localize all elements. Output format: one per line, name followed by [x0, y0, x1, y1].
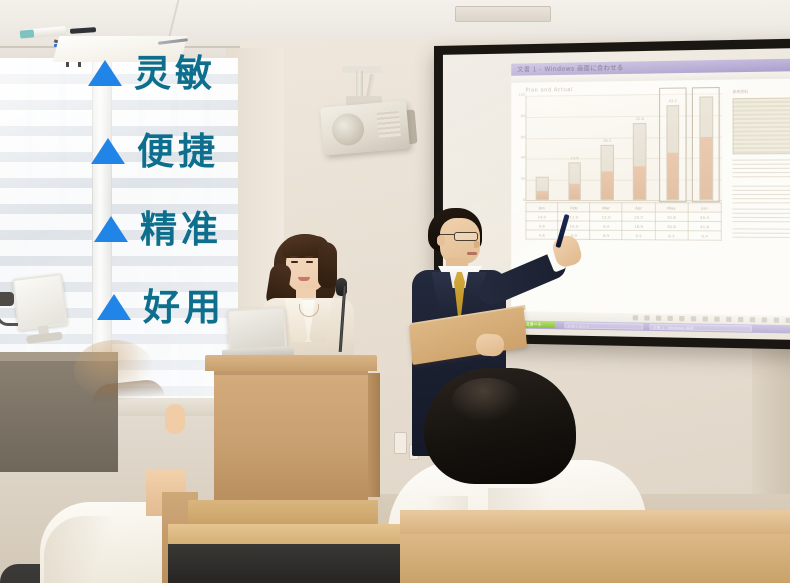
y-axis-tick-label: 60 [521, 136, 526, 140]
desk-item-marker [20, 29, 35, 38]
sidebar-paragraph [733, 228, 790, 241]
feature-label: 便捷 [137, 133, 219, 170]
toolbar-icon[interactable] [738, 317, 743, 322]
y-axis-ticks: 020406080100 [516, 96, 525, 201]
presentation-scene-image: 文書 1 - Windows 画面に合わせる Plan and Actual 0… [0, 0, 790, 583]
attendee-left-hair-highlight [74, 340, 154, 400]
table-column-header: May [655, 203, 688, 212]
man-holding-hand [475, 333, 504, 356]
toolbar-icon[interactable] [668, 316, 673, 321]
chart-bar-actual-segment [700, 137, 711, 200]
chart-bar-plan-segment [568, 162, 581, 200]
desk-left-top [168, 524, 408, 546]
attendee-right-hair-highlight [452, 378, 522, 422]
woman-hair-right [318, 242, 337, 288]
triangle-up-icon [91, 138, 125, 164]
chart-bar: 14.6 [568, 94, 581, 200]
chart-bar-plan-segment [536, 177, 549, 200]
feature-label: 精准 [140, 211, 222, 248]
toolbar-icon[interactable] [633, 315, 638, 320]
feature-label: 灵敏 [134, 55, 216, 92]
projector-lens [331, 112, 366, 147]
sidebar-paragraph [733, 209, 790, 224]
woman-eyebrow-right [305, 256, 313, 258]
toolbar-icon[interactable] [679, 316, 684, 321]
monitor-cable [0, 300, 18, 326]
slide-sidebar: 参考資料 [733, 89, 790, 294]
desk-front-right [400, 496, 790, 583]
table-column-header: Apr [622, 203, 655, 212]
chart-bar-value-label: 31.8 [633, 117, 646, 121]
chart-bar-actual-segment [602, 171, 613, 199]
desk-front-left [168, 500, 408, 583]
toolbar-icon[interactable] [750, 317, 755, 322]
table-cell: 12.0 [590, 212, 622, 221]
triangle-up-icon [97, 294, 131, 320]
desk-left-front [168, 544, 408, 583]
monitor-screen [12, 273, 68, 331]
table-cell: 41.6 [688, 221, 721, 230]
chart-bar-plan-segment [601, 145, 614, 200]
feature-item: 灵敏 [88, 34, 288, 112]
chart-bar-plan-segment [666, 106, 679, 201]
table-cell: 9.0 [590, 221, 622, 230]
table-cell: 18.9 [622, 221, 655, 230]
y-axis-tick-label: 40 [521, 157, 526, 161]
woman-eyebrow-left [290, 256, 298, 258]
bar-chart-plot-area: 020406080100 14.626.331.843.2 [525, 93, 721, 201]
y-axis-tick-label: 80 [521, 115, 526, 119]
chart-bar-actual-segment [569, 184, 580, 199]
table-cell: 9.4 [688, 231, 721, 241]
toolbar-icon[interactable] [726, 317, 731, 322]
projected-window-title: 文書 1 - Windows 画面に合わせる [517, 63, 623, 74]
sidebar-heading: 参考資料 [733, 89, 790, 95]
chart-bar-actual-segment [537, 191, 548, 199]
glasses-temple [440, 234, 455, 235]
feature-item: 好用 [88, 268, 288, 346]
toolbar-icon[interactable] [703, 316, 708, 321]
table-column-header: Jun [688, 203, 721, 212]
feature-item: 便捷 [88, 112, 288, 190]
chart-bar [536, 94, 549, 200]
man-mouth [467, 252, 477, 255]
table-cell: 6.9 [590, 230, 622, 239]
table-cell: 9.5 [622, 230, 655, 239]
chart-bar-plan-segment [699, 97, 712, 201]
desk-right-top [400, 510, 790, 536]
chart-bar: 31.8 [633, 93, 646, 200]
desk-right-front [400, 534, 790, 583]
table-cell: 40.4 [688, 212, 721, 221]
desk-left-back-panel [188, 500, 378, 526]
chart-bar: 26.3 [601, 94, 614, 201]
toolbar-icon[interactable] [762, 317, 767, 322]
projector-body [320, 100, 410, 155]
man-ear [437, 235, 445, 246]
toolbar-icon[interactable] [644, 315, 649, 320]
table-cell: 30.8 [655, 221, 688, 230]
chart-bar-actual-segment [634, 166, 645, 199]
table-cell: 8.3 [655, 231, 688, 240]
chart-bar-actual-segment [667, 153, 678, 199]
ceiling-vent [455, 6, 551, 22]
projector-vent [377, 111, 401, 139]
chart-bar-value-label: 43.2 [666, 99, 679, 103]
triangle-up-icon [94, 216, 128, 242]
chart-bar-value-label: 14.6 [568, 156, 581, 160]
chart-title: Plan and Actual [525, 87, 573, 94]
chart-bar [699, 92, 712, 200]
y-axis-tick-label: 20 [521, 178, 526, 182]
sidebar-image [733, 97, 790, 154]
glasses-icon [454, 232, 478, 241]
y-axis-tick-label: 100 [518, 94, 525, 98]
toolbar-icon[interactable] [656, 316, 661, 321]
ceiling-projector-icon [316, 66, 422, 154]
chart-bar-value-label: 26.3 [601, 139, 614, 143]
toolbar-icon[interactable] [691, 316, 696, 321]
feature-label: 好用 [143, 289, 225, 326]
toolbar-icon[interactable] [774, 317, 779, 322]
sidebar-paragraph [733, 186, 790, 204]
chart-bar: 43.2 [666, 93, 679, 200]
feature-item: 精准 [88, 190, 288, 268]
toolbar-icon[interactable] [714, 317, 719, 322]
triangle-up-icon [88, 60, 122, 86]
table-column-header: Mar [590, 203, 622, 212]
table-cell: 20.5 [622, 212, 655, 221]
table-cell: 32.8 [655, 212, 688, 221]
toolbar-icon[interactable] [786, 318, 790, 323]
taskbar-item[interactable]: 文書 1 - Windows 画面 [650, 324, 752, 332]
feature-list-overlay: 灵敏便捷精准好用 [88, 34, 288, 346]
sidebar-paragraph [733, 159, 790, 180]
lectern-side [368, 373, 380, 497]
chart-bar-plan-segment [633, 123, 646, 200]
